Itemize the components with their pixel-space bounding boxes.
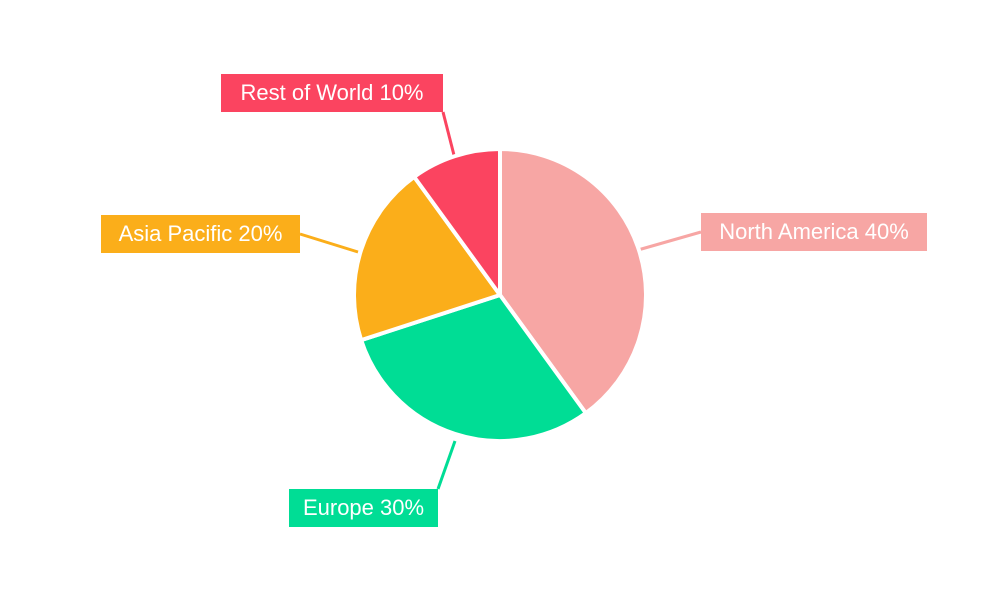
leader-line-north-america: [638, 232, 701, 250]
pie-label-asia-pacific[interactable]: Asia Pacific 20%: [101, 215, 300, 253]
leader-line-asia-pacific: [300, 234, 358, 252]
pie-chart-svg: [0, 0, 1000, 600]
leader-line-europe: [438, 441, 455, 489]
pie-label-north-america-text: North America 40%: [719, 221, 909, 243]
pie-label-europe-text: Europe 30%: [303, 497, 424, 519]
pie-label-rest-of-world-text: Rest of World 10%: [240, 82, 423, 104]
pie-slices: [354, 149, 646, 441]
pie-label-rest-of-world[interactable]: Rest of World 10%: [221, 74, 443, 112]
pie-chart-canvas: Rest of World 10% Asia Pacific 20% North…: [0, 0, 1000, 600]
pie-label-asia-pacific-text: Asia Pacific 20%: [119, 223, 283, 245]
pie-label-europe[interactable]: Europe 30%: [289, 489, 438, 527]
pie-label-north-america[interactable]: North America 40%: [701, 213, 927, 251]
